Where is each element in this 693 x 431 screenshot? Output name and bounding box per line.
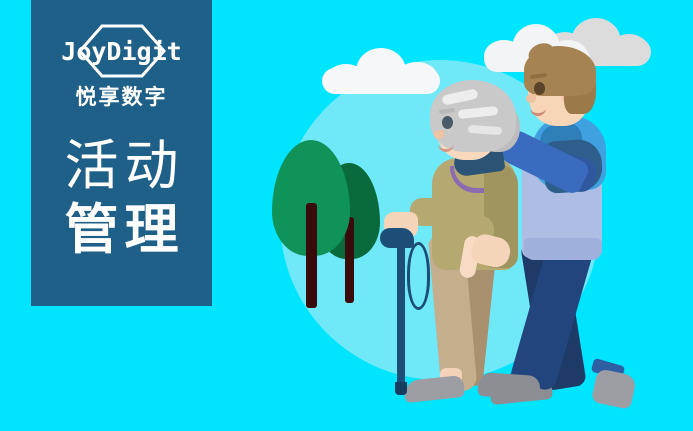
tree-front-trunk	[306, 203, 317, 308]
cane-tip	[395, 382, 407, 395]
woman-back-shoe	[477, 372, 541, 400]
page-title: 活动 管理	[59, 135, 185, 262]
title-panel: JoyDigit 悦享数字 活动 管理	[31, 0, 212, 306]
brand-logo: JoyDigit 悦享数字	[47, 24, 197, 109]
walking-cane-icon	[380, 228, 426, 396]
page-title-line-2: 管理	[59, 199, 185, 263]
cane-handle	[380, 228, 414, 248]
poster-canvas: JoyDigit 悦享数字 活动 管理	[0, 0, 693, 431]
logo-chinese-name: 悦享数字	[76, 86, 168, 109]
cane-shaft	[397, 240, 405, 386]
logo-mark: JoyDigit	[52, 24, 192, 78]
woman-eye	[442, 116, 453, 129]
woman-nose	[434, 130, 444, 139]
cane-strap	[407, 242, 430, 310]
tree-front-icon	[272, 140, 350, 308]
page-title-line-1: 活动	[59, 135, 185, 199]
elderly-woman-figure	[406, 86, 546, 406]
logo-wordmark: JoyDigit	[61, 39, 181, 64]
